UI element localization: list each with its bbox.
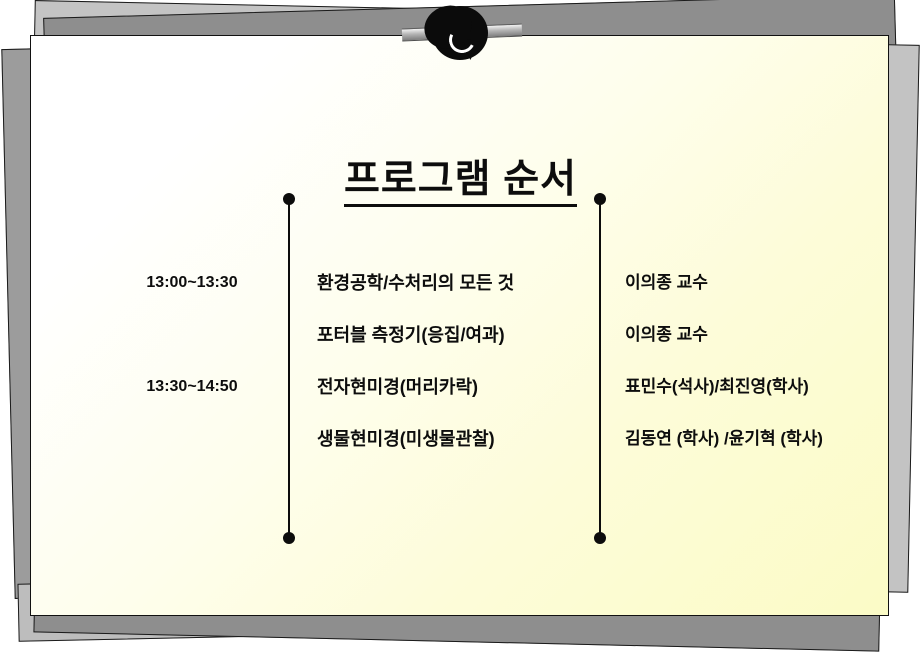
slide-stage: 프로그램 순서 13:00~13:30 환경공학/수처리의 모든 것 이의종 교… xyxy=(0,0,920,649)
pushpin-icon xyxy=(402,0,522,62)
divider-dot-top-icon xyxy=(283,193,295,205)
main-page: 프로그램 순서 13:00~13:30 환경공학/수처리의 모든 것 이의종 교… xyxy=(30,35,889,616)
row-program: 환경공학/수처리의 모든 것 xyxy=(317,270,514,296)
row-program: 포터블 측정기(응집/여과) xyxy=(317,322,505,348)
divider-dot-bottom-icon xyxy=(594,532,606,544)
row-time: 13:30~14:50 xyxy=(117,374,267,400)
table-row: 13:00~13:30 환경공학/수처리의 모든 것 이의종 교수 xyxy=(31,270,890,322)
row-presenter: 이의종 교수 xyxy=(625,270,708,296)
page-title: 프로그램 순서 xyxy=(31,148,890,204)
row-presenter: 이의종 교수 xyxy=(625,322,708,348)
table-row: 생물현미경(미생물관찰) 김동연 (학사) /윤기혁 (학사) xyxy=(31,426,890,478)
row-presenter: 김동연 (학사) /윤기혁 (학사) xyxy=(625,426,823,452)
row-program: 생물현미경(미생물관찰) xyxy=(317,426,495,452)
divider-dot-bottom-icon xyxy=(283,532,295,544)
page-title-text: 프로그램 순서 xyxy=(344,158,577,207)
divider-dot-top-icon xyxy=(594,193,606,205)
row-time: 13:00~13:30 xyxy=(117,270,267,296)
schedule-table: 13:00~13:30 환경공학/수처리의 모든 것 이의종 교수 포터블 측정… xyxy=(31,270,890,478)
table-row: 포터블 측정기(응집/여과) 이의종 교수 xyxy=(31,322,890,374)
table-row: 13:30~14:50 전자현미경(머리카락) 표민수(석사)/최진영(학사) xyxy=(31,374,890,426)
row-presenter: 표민수(석사)/최진영(학사) xyxy=(625,374,809,400)
row-program: 전자현미경(머리카락) xyxy=(317,374,478,400)
